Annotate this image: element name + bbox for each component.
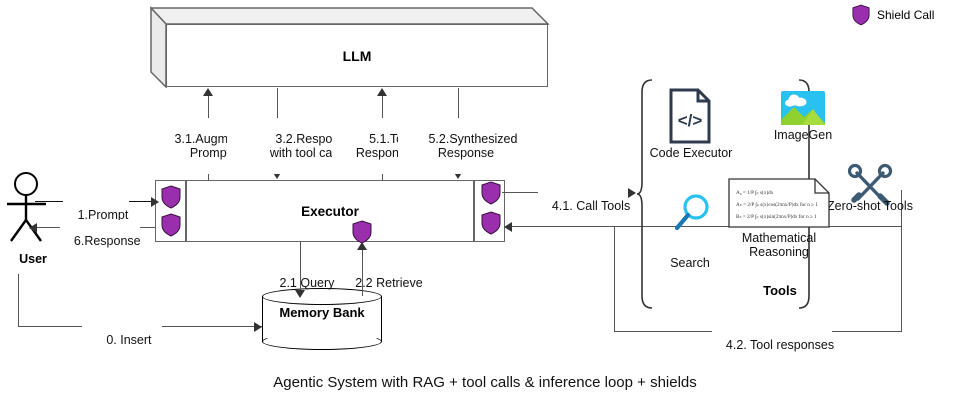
legend: Shield Call xyxy=(852,4,934,26)
edge-label-4-2: 4.2. Tool responses xyxy=(712,324,832,366)
tools-left-brace xyxy=(636,78,656,310)
formula-line-2: Aₙ = 2/P ∫ₚ s(x)cos(2πnx/P)dx for n ≥ 1 xyxy=(736,201,818,208)
edge-6-response-arrowhead xyxy=(29,223,37,233)
llm-node[interactable]: LLM xyxy=(150,6,550,88)
edge-3-1-arrowhead xyxy=(203,88,213,96)
edge-0-insert-text: 0. Insert xyxy=(106,333,151,347)
edge-label-0-insert: 0. Insert xyxy=(82,319,162,361)
memory-bank-label: Memory Bank xyxy=(262,305,382,320)
image-icon[interactable] xyxy=(780,90,826,126)
edge-4-1-arrowhead xyxy=(628,188,636,198)
edge-4-1-text: 4.1. Call Tools xyxy=(552,199,630,213)
shield-icon-tools-out[interactable] xyxy=(481,181,501,205)
formula-document-icon[interactable]: A₀ = 1/P ∫ₚ s(x)dx Aₙ = 2/P ∫ₚ s(x)cos(2… xyxy=(727,177,831,229)
edge-6-response-text: 6.Response xyxy=(74,234,141,248)
tool-label-imagegen: ImageGen xyxy=(757,128,849,142)
shield-icon-legend xyxy=(852,4,870,26)
cylinder-bottom xyxy=(262,333,382,350)
edge-4-2-vline-left xyxy=(614,226,615,332)
magnifier-icon[interactable] xyxy=(672,192,712,234)
llm-label: LLM xyxy=(166,24,548,87)
edge-label-6-response: 6.Response xyxy=(60,220,140,262)
edge-2-2-text: 2.2 Retrieve xyxy=(355,276,422,290)
edge-1-prompt-arrowhead xyxy=(151,197,159,207)
tools-group-label: Tools xyxy=(690,283,870,298)
edge-2-1-text: 2.1 Query xyxy=(280,276,335,290)
user-actor-icon[interactable] xyxy=(6,172,66,244)
shield-icon-executor-in[interactable] xyxy=(161,185,181,209)
edge-4-2-hline-into-executor xyxy=(512,226,616,227)
tool-label-code-executor: Code Executor xyxy=(645,146,737,160)
code-document-icon[interactable]: </> xyxy=(668,88,712,144)
edge-0-insert-arrowhead xyxy=(254,322,262,332)
executor-label: Executor xyxy=(155,180,505,242)
edge-4-2-text: 4.2. Tool responses xyxy=(726,338,834,352)
svg-text:</>: </> xyxy=(678,111,703,130)
user-label: User xyxy=(0,252,66,266)
formula-line-1: A₀ = 1/P ∫ₚ s(x)dx xyxy=(736,189,774,196)
shield-icon-executor-out[interactable] xyxy=(161,213,181,237)
legend-label: Shield Call xyxy=(877,8,934,22)
edge-5-1-arrowhead xyxy=(377,88,387,96)
diagram-canvas: LLM 3.1.Augmented Prompt 3.2.Response wi… xyxy=(0,0,970,411)
edge-5-2-text: 5.2.Synthesized Response xyxy=(428,132,517,160)
formula-line-3: Bₙ = 2/P ∫ₚ s(x)sin(2πnx/P)dx for n ≥ 1 xyxy=(736,213,817,220)
diagram-caption: Agentic System with RAG + tool calls & i… xyxy=(0,374,970,391)
edge-label-5-2: 5.2.Synthesized Response xyxy=(398,118,534,174)
edge-4-2-arrowhead xyxy=(504,222,512,232)
edge-label-2-2: 2.2 Retrieve xyxy=(336,262,428,304)
edge-label-4-1: 4.1. Call Tools xyxy=(538,185,628,227)
edge-0-insert-vline xyxy=(18,274,19,327)
tool-label-search: Search xyxy=(648,256,732,270)
shield-icon-tools-in[interactable] xyxy=(481,211,501,235)
tool-label-mathematical-reasoning: Mathematical Reasoning xyxy=(722,231,836,259)
edge-label-2-1: 2.1 Query xyxy=(258,262,342,304)
shield-icon-memory-retrieve[interactable] xyxy=(352,220,372,244)
tool-label-zero-shot-tools: Zero-shot Tools xyxy=(822,199,918,213)
edge-2-2-arrowhead xyxy=(357,242,367,250)
